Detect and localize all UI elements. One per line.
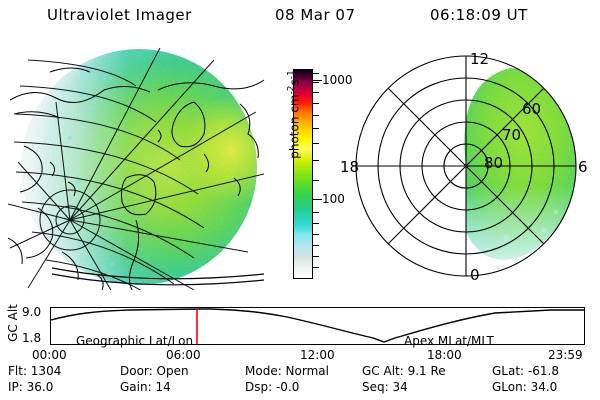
colorbar-minor-tick: [313, 92, 319, 93]
status-dsp: Dsp: -0.0: [245, 380, 299, 394]
status-flt: Flt: 1304: [8, 364, 61, 378]
colorbar-minor-tick: [313, 256, 319, 257]
time-tick-0000: 00:00: [32, 348, 67, 362]
status-door: Door: Open: [120, 364, 189, 378]
observation-time: 06:18:09 UT: [430, 6, 528, 24]
time-tick-1800: 18:00: [427, 348, 462, 362]
status-glon: GLon: 34.0: [492, 380, 557, 394]
gcalt-tick-low: 1.8: [22, 331, 41, 345]
colorbar-minor-tick: [313, 143, 319, 144]
mlt-lat-label-70: 70: [502, 126, 521, 144]
geographic-panel: Geographic Lat/Lon: [8, 42, 266, 290]
geographic-aurora-image: [8, 42, 266, 290]
colorbar-minor-tick: [313, 128, 319, 129]
status-seq: Seq: 34: [362, 380, 408, 394]
colorbar-minor-tick: [313, 73, 319, 74]
observation-date: 08 Mar 07: [275, 6, 356, 24]
mlt-panel: 60 70 80 12 6 0 18 Apex MLat/MLT: [338, 42, 594, 290]
mlt-dial-image: 60 70 80 12 6 0 18: [338, 42, 594, 290]
time-tick-1200: 12:00: [300, 348, 335, 362]
colorbar-minor-tick: [313, 245, 319, 246]
colorbar-minor-tick: [313, 180, 319, 181]
colorbar-minor-tick: [313, 223, 319, 224]
status-bar: Flt: 1304 IP: 36.0 Door: Open Gain: 14 M…: [0, 364, 600, 398]
instrument-title: Ultraviolet Imager: [47, 6, 192, 24]
colorbar-minor-tick: [313, 103, 319, 104]
colorbar-minor-tick: [313, 115, 319, 116]
mlt-label-18: 18: [340, 158, 359, 176]
gcalt-axis-label: GC Alt: [3, 300, 21, 350]
time-tick-2359: 23:59: [548, 348, 583, 362]
mlt-label-12: 12: [470, 50, 489, 68]
colorbar-axis-label: photon cm-2s-1: [287, 45, 302, 185]
orbit-altitude-plot[interactable]: [50, 307, 585, 345]
status-gain: Gain: 14: [120, 380, 171, 394]
colorbar-minor-tick: [313, 267, 319, 268]
colorbar-minor-tick: [313, 160, 319, 161]
status-glat: GLat: -61.8: [492, 364, 559, 378]
colorbar-major-tick: [313, 80, 322, 81]
status-ip: IP: 36.0: [8, 380, 53, 394]
header: Ultraviolet Imager 08 Mar 07 06:18:09 UT: [0, 6, 600, 30]
mlt-label-6: 6: [578, 158, 588, 176]
time-tick-0600: 06:00: [166, 348, 201, 362]
orbit-altitude-curve: [51, 308, 584, 344]
colorbar-minor-tick: [313, 234, 319, 235]
mlt-label-0: 0: [470, 266, 480, 284]
ultraviolet-imager-screen: Ultraviolet Imager 08 Mar 07 06:18:09 UT: [0, 0, 600, 400]
mlt-lat-label-60: 60: [522, 100, 541, 118]
status-gcalt: GC Alt: 9.1 Re: [362, 364, 446, 378]
colorbar-minor-tick: [313, 212, 319, 213]
status-mode: Mode: Normal: [245, 364, 329, 378]
gcalt-tick-high: 9.0: [22, 305, 41, 319]
mlt-lat-label-80: 80: [484, 154, 503, 172]
colorbar-minor-tick: [313, 82, 319, 83]
colorbar-major-tick: [313, 199, 322, 200]
colorbar: 1000 100 photon cm-2s-1: [270, 60, 340, 295]
